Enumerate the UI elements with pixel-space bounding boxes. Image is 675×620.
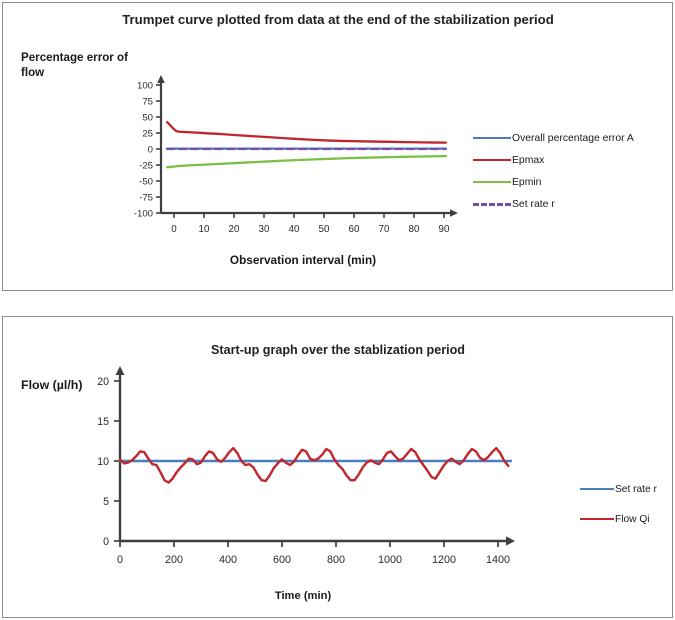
series-line-flow-qi — [120, 448, 508, 482]
x-tick-label: 400 — [219, 554, 237, 566]
y-tick-label: 15 — [97, 416, 109, 428]
y-axis-arrow — [157, 75, 165, 83]
x-tick-label: 200 — [165, 554, 183, 566]
legend-item-set-rate[interactable]: Set rate r — [580, 474, 657, 504]
x-tick-label: 800 — [327, 554, 345, 566]
x-tick-label: 10 — [199, 224, 210, 235]
legend-line-swatch-icon — [473, 181, 511, 183]
y-tick-label: 10 — [97, 456, 109, 468]
legend-item-flow-qi[interactable]: Flow Qi — [580, 504, 657, 534]
y-tick-label: -50 — [139, 177, 153, 188]
legend-item-overall-percentage-error[interactable]: Overall percentage error A — [473, 127, 634, 149]
x-axis-tick-labels: 0 200 400 600 800 1000 1200 1400 — [117, 554, 510, 566]
start-up-graph-plot: 20 15 10 5 0 0 200 — [63, 363, 523, 578]
y-tick-label: 100 — [137, 81, 153, 92]
y-tick-label: 0 — [103, 536, 109, 548]
y-tick-label: 75 — [142, 97, 153, 108]
trumpet-curve-plot: 100 75 50 25 0 -25 -50 -75 -100 — [111, 75, 461, 230]
x-tick-label: 1400 — [486, 554, 510, 566]
legend-line-swatch-icon — [473, 159, 511, 161]
legend-line-swatch-icon — [580, 518, 614, 520]
x-tick-label: 70 — [379, 224, 390, 235]
x-tick-label: 80 — [409, 224, 420, 235]
y-tick-label: 25 — [142, 129, 153, 140]
legend-item-label: Set rate r — [512, 199, 555, 210]
x-tick-label: 20 — [229, 224, 240, 235]
x-tick-label: 1200 — [432, 554, 456, 566]
legend-item-label: Epmin — [512, 177, 541, 188]
x-tick-label: 0 — [117, 554, 123, 566]
x-tick-label: 600 — [273, 554, 291, 566]
start-up-graph-panel: Start-up graph over the stablization per… — [2, 316, 673, 618]
legend-item-set-rate[interactable]: Set rate r — [473, 193, 634, 215]
x-tick-label: 40 — [289, 224, 300, 235]
legend-line-swatch-icon — [580, 488, 614, 490]
x-axis-label: Observation interval (min) — [153, 253, 453, 268]
legend-item-epmax[interactable]: Epmax — [473, 149, 634, 171]
trumpet-curve-svg: 100 75 50 25 0 -25 -50 -75 -100 — [111, 75, 461, 230]
page-title: Trumpet curve plotted from data at the e… — [58, 12, 618, 28]
y-tick-label: 20 — [97, 376, 109, 388]
start-up-graph-svg: 20 15 10 5 0 0 200 — [63, 363, 523, 578]
y-tick-label: -25 — [139, 161, 153, 172]
start-up-series-group — [120, 448, 511, 482]
x-tick-label: 90 — [439, 224, 450, 235]
x-axis-arrow — [506, 536, 515, 545]
chart-legend: Overall percentage error A Epmax Epmin S… — [473, 127, 634, 215]
x-tick-label: 1000 — [378, 554, 402, 566]
trumpet-curve-panel: Trumpet curve plotted from data at the e… — [2, 2, 673, 291]
x-tick-label: 50 — [319, 224, 330, 235]
x-axis-label: Time (min) — [103, 589, 503, 604]
legend-item-label: Overall percentage error A — [512, 133, 634, 144]
x-tick-label: 0 — [171, 224, 177, 235]
y-tick-label: 0 — [148, 145, 153, 156]
legend-dashed-line-swatch-icon — [473, 203, 511, 206]
y-tick-label: 5 — [103, 496, 109, 508]
y-tick-label: 50 — [142, 113, 153, 124]
series-line-epmax — [167, 122, 446, 142]
x-axis-arrow — [450, 209, 458, 217]
legend-item-label: Epmax — [512, 155, 544, 166]
y-axis-tick-labels: 100 75 50 25 0 -25 -50 -75 -100 — [134, 81, 153, 220]
legend-item-epmin[interactable]: Epmin — [473, 171, 634, 193]
y-axis-tick-labels: 20 15 10 5 0 — [97, 376, 109, 548]
chart-title: Start-up graph over the stablization per… — [113, 343, 563, 359]
legend-line-swatch-icon — [473, 137, 511, 139]
y-tick-label: -75 — [139, 193, 153, 204]
x-tick-label: 60 — [349, 224, 360, 235]
x-axis-tick-labels: 0 10 20 30 40 50 60 70 80 90 — [171, 224, 450, 235]
legend-item-label: Set rate r — [615, 484, 657, 495]
y-axis-arrow — [116, 366, 125, 375]
trumpet-series-group — [167, 122, 446, 167]
chart-legend: Set rate r Flow Qi — [580, 474, 657, 534]
series-line-epmin — [167, 156, 446, 167]
legend-item-label: Flow Qi — [615, 514, 650, 525]
y-tick-label: -100 — [134, 209, 153, 220]
x-tick-label: 30 — [259, 224, 270, 235]
